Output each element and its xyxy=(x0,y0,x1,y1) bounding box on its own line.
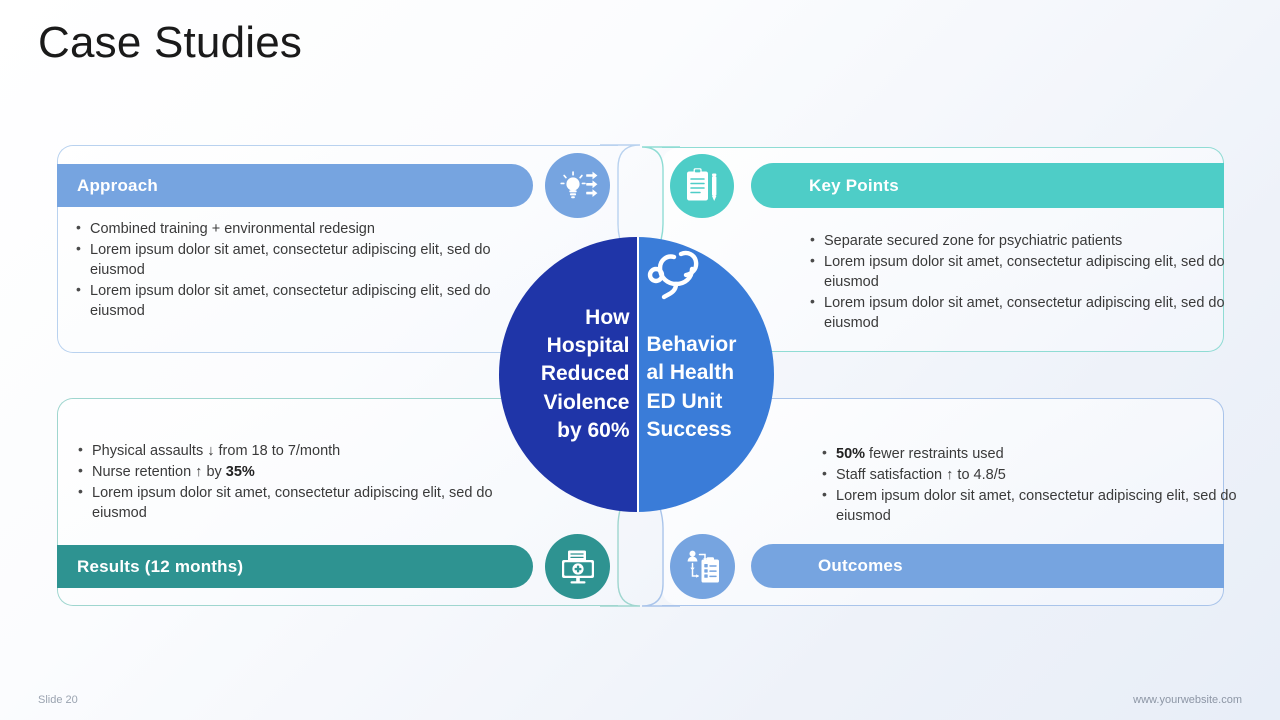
bullet-item: Lorem ipsum dolor sit amet, consectetur … xyxy=(810,252,1230,292)
page-title: Case Studies xyxy=(38,18,302,68)
bullet-item: Lorem ipsum dolor sit amet, consectetur … xyxy=(78,483,508,523)
bullet-item: Lorem ipsum dolor sit amet, consectetur … xyxy=(76,281,506,321)
bullet-list: 50% fewer restraints usedStaff satisfact… xyxy=(822,444,1242,526)
bullet-item: Physical assaults ↓ from 18 to 7/month xyxy=(78,441,508,461)
lightbulb-arrows-icon xyxy=(545,153,610,218)
center-circle: HowHospitalReducedViolenceby 60% Behavio… xyxy=(499,237,774,512)
bullet-item: Nurse retention ↑ by 35% xyxy=(78,462,508,482)
header-key-points[interactable]: Key Points xyxy=(751,163,1224,208)
center-text-line: Reduced xyxy=(541,360,630,388)
bullet-item: 50% fewer restraints used xyxy=(822,444,1242,464)
footer-slide-number: Slide 20 xyxy=(38,694,78,706)
header-approach-label: Approach xyxy=(77,176,158,196)
center-text-line: al Health xyxy=(647,359,737,387)
header-results-label: Results (12 months) xyxy=(77,557,243,577)
bullet-list: Separate secured zone for psychiatric pa… xyxy=(810,231,1230,333)
center-text-line: by 60% xyxy=(541,417,630,445)
bullet-item: Separate secured zone for psychiatric pa… xyxy=(810,231,1230,251)
header-results[interactable]: Results (12 months) xyxy=(57,545,533,588)
bullet-item: Lorem ipsum dolor sit amet, consectetur … xyxy=(822,486,1242,526)
stethoscope-icon xyxy=(647,249,721,316)
center-left-text: HowHospitalReducedViolenceby 60% xyxy=(541,304,630,446)
center-text-line: ED Unit xyxy=(647,388,737,416)
header-outcomes-label: Outcomes xyxy=(818,556,903,576)
bullet-list: Combined training + environmental redesi… xyxy=(76,219,506,321)
center-text-line: How xyxy=(541,304,630,332)
clipboard-pen-icon xyxy=(670,154,734,218)
center-text-line: Success xyxy=(647,416,737,444)
bullets-key-points: Separate secured zone for psychiatric pa… xyxy=(810,231,1230,334)
center-text-line: Behavior xyxy=(647,331,737,359)
center-left-half: HowHospitalReducedViolenceby 60% xyxy=(499,237,637,512)
center-text-line: Violence xyxy=(541,389,630,417)
bullet-item: Lorem ipsum dolor sit amet, consectetur … xyxy=(76,240,506,280)
bullet-list: Physical assaults ↓ from 18 to 7/monthNu… xyxy=(78,441,508,523)
header-outcomes[interactable]: Outcomes xyxy=(751,544,1224,588)
process-checklist-icon xyxy=(670,534,735,599)
header-approach[interactable]: Approach xyxy=(57,164,533,207)
center-right-half: Behavioral HealthED UnitSuccess xyxy=(637,237,775,512)
bullet-item: Staff satisfaction ↑ to 4.8/5 xyxy=(822,465,1242,485)
bullet-item: Combined training + environmental redesi… xyxy=(76,219,506,239)
medical-monitor-icon xyxy=(545,534,610,599)
center-text-line: Hospital xyxy=(541,332,630,360)
bullet-item: Lorem ipsum dolor sit amet, consectetur … xyxy=(810,293,1230,333)
center-right-text: Behavioral HealthED UnitSuccess xyxy=(647,331,737,444)
footer-website[interactable]: www.yourwebsite.com xyxy=(1133,694,1242,706)
bullets-outcomes: 50% fewer restraints usedStaff satisfact… xyxy=(822,444,1242,527)
header-key-points-label: Key Points xyxy=(809,176,899,196)
bullets-approach: Combined training + environmental redesi… xyxy=(76,219,506,322)
bullets-results: Physical assaults ↓ from 18 to 7/monthNu… xyxy=(78,441,508,524)
